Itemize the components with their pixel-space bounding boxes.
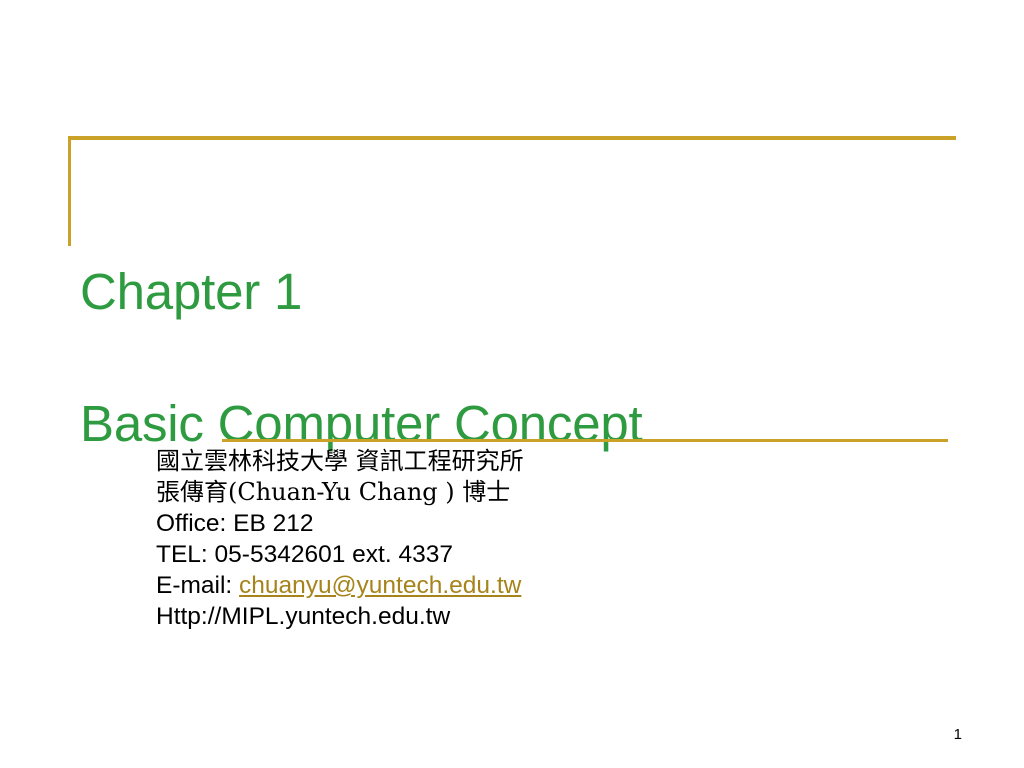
telephone-line: TEL: 05-5342601 ext. 4337 [156, 539, 976, 570]
affiliation-line: 國立雲林科技大學 資訊工程研究所 [156, 446, 976, 477]
email-line: E-mail: chuanyu@yuntech.edu.tw [156, 570, 976, 601]
body-divider-rule [222, 439, 948, 442]
page-number: 1 [954, 726, 962, 743]
email-link[interactable]: chuanyu@yuntech.edu.tw [239, 572, 521, 599]
title-left-rule [68, 136, 71, 246]
presentation-slide: Chapter 1 Basic Computer Concept 國立雲林科技大… [0, 0, 1024, 768]
author-info-block: 國立雲林科技大學 資訊工程研究所 張傳育(Chuan-Yu Chang ) 博士… [156, 446, 976, 632]
office-line: Office: EB 212 [156, 508, 976, 539]
slide-title-line-1: Chapter 1 [80, 259, 960, 325]
homepage-line: Http://MIPL.yuntech.edu.tw [156, 601, 976, 632]
author-name-line: 張傳育(Chuan-Yu Chang ) 博士 [156, 477, 976, 508]
title-top-rule [68, 136, 956, 140]
email-label: E-mail: [156, 572, 239, 599]
